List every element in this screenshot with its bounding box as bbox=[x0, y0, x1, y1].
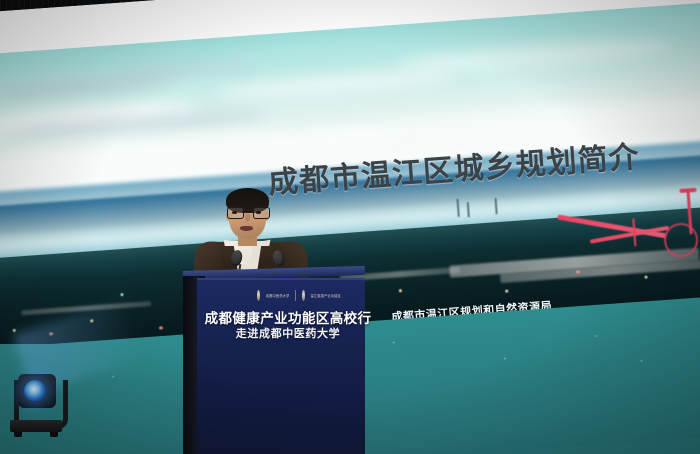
eye-right bbox=[256, 211, 261, 214]
floor-speck-1 bbox=[112, 376, 114, 378]
podium-logo-row: 成都中医药大学 温江健康产业功能区 bbox=[257, 289, 341, 302]
light-lens-icon bbox=[24, 380, 46, 402]
light-base bbox=[10, 420, 62, 432]
health-zone-seal-icon bbox=[302, 290, 305, 301]
cloud-6 bbox=[394, 35, 675, 77]
floor-speck-3 bbox=[504, 357, 506, 359]
mouth bbox=[240, 226, 253, 231]
logo-right-label: 温江健康产业功能区 bbox=[311, 294, 342, 298]
podium-subline: 走进成都中医药大学 bbox=[197, 325, 379, 341]
floor-speck-2 bbox=[393, 341, 395, 343]
podium-front-panel: 成都中医药大学 温江健康产业功能区 成都健康产业功能区高校行 走进成都中医药大学 bbox=[197, 278, 365, 454]
glasses-bridge bbox=[242, 211, 253, 212]
university-seal-icon bbox=[257, 290, 260, 301]
floor-speck-5 bbox=[640, 360, 642, 362]
screenshot-root: 成都市温江区城乡规划简介 成都市温江区规划和自然资源局 2019.03 bbox=[0, 0, 700, 454]
cloud-2 bbox=[114, 60, 264, 80]
stage-moving-head-light bbox=[6, 368, 68, 438]
eye-left bbox=[232, 211, 237, 214]
podium: 成都中医药大学 温江健康产业功能区 成都健康产业功能区高校行 走进成都中医药大学 bbox=[183, 278, 365, 454]
nose bbox=[245, 214, 250, 222]
light-foot-right bbox=[50, 432, 58, 437]
cloud-5 bbox=[216, 67, 457, 102]
logo-left-label: 成都中医药大学 bbox=[266, 294, 290, 298]
light-foot-left bbox=[14, 432, 22, 437]
eyebrow-right bbox=[254, 203, 265, 205]
floor-speck-4 bbox=[595, 335, 597, 337]
podium-headline: 成都健康产业功能区高校行 bbox=[197, 307, 379, 327]
cloud-8 bbox=[299, 90, 700, 150]
eyebrow-left bbox=[229, 203, 240, 205]
